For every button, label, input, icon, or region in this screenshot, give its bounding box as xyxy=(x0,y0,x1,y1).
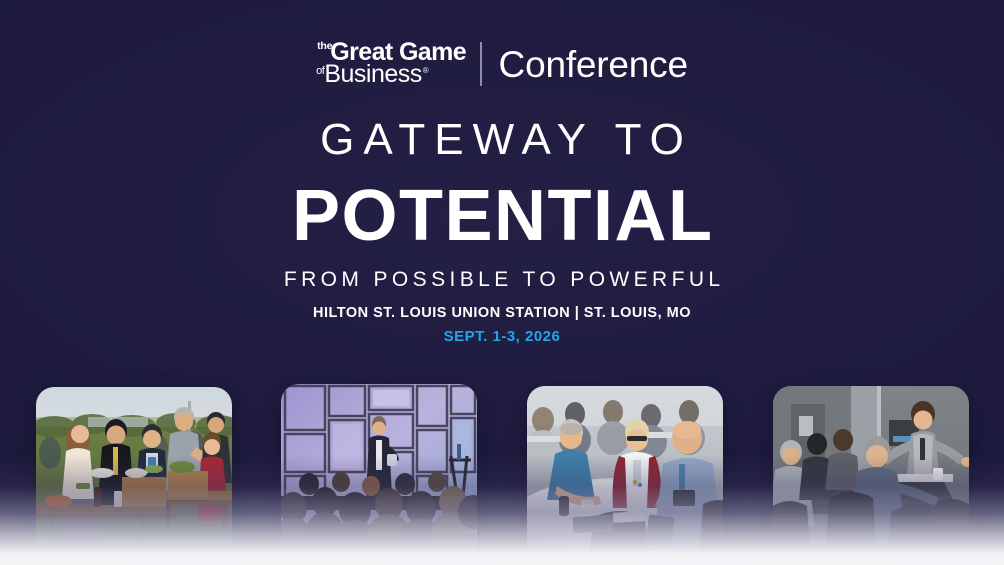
photo-4-alt: A woman presenting with open arms to a s… xyxy=(773,386,774,387)
photo-roundtable-discussion: Three attendees laughing together at a r… xyxy=(527,386,723,562)
photo-2-alt: Speaker on stage in front of a purple an… xyxy=(281,384,282,385)
photo-workshop-presenter: A woman presenting with open arms to a s… xyxy=(773,386,969,562)
photo-outdoor-reception: Attendees with lanyards serving food fro… xyxy=(36,387,232,563)
photo-keynote-stage: Speaker on stage in front of a purple an… xyxy=(281,384,477,560)
photo-strip: Attendees with lanyards serving food fro… xyxy=(0,0,1004,565)
conference-promo-banner: the Great Game of Business ® Conference … xyxy=(0,0,1004,565)
photo-3-alt: Three attendees laughing together at a r… xyxy=(527,386,528,387)
photo-1-alt: Attendees with lanyards serving food fro… xyxy=(36,387,37,388)
